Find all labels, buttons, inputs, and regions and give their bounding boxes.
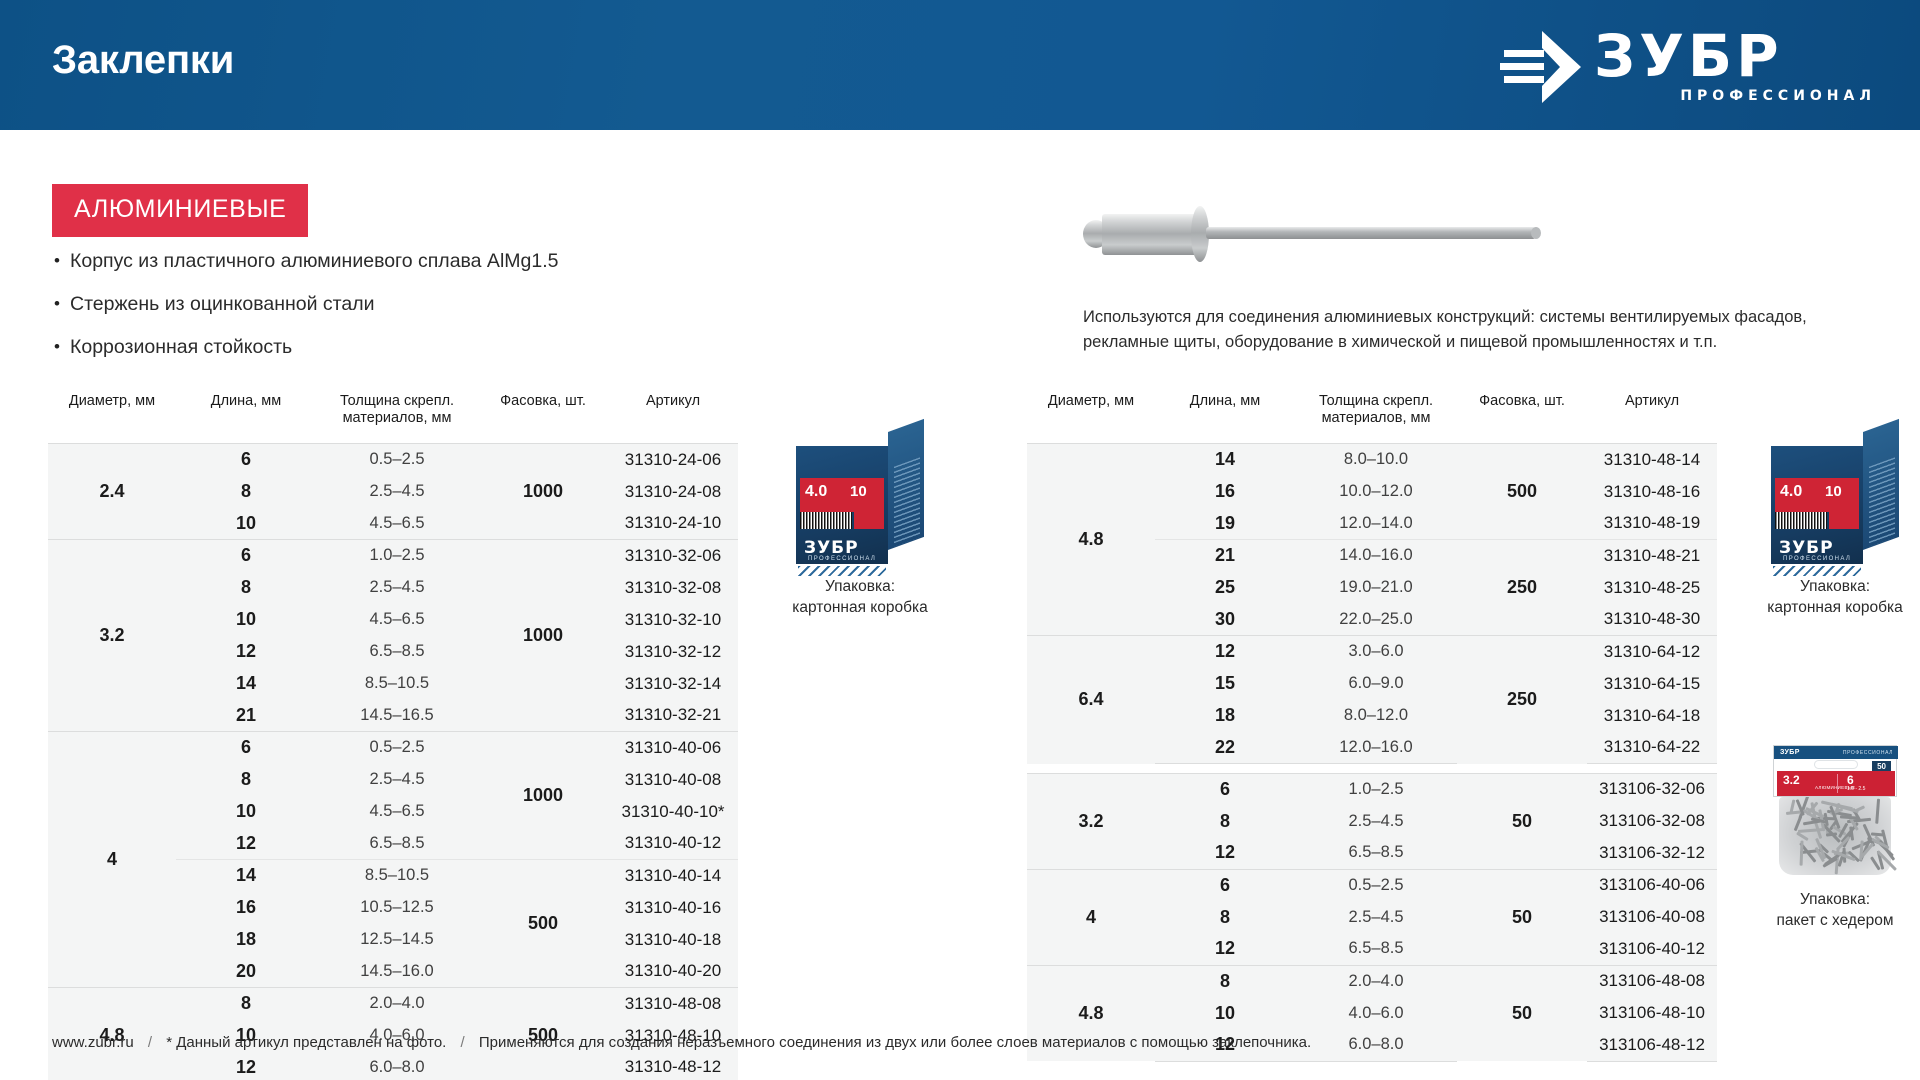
- box-qty-tag: [854, 512, 884, 529]
- cell-diameter: 4.8: [1027, 444, 1155, 636]
- cell-length: 8: [1155, 965, 1295, 997]
- box-red-label: 4.0 10: [1775, 478, 1859, 512]
- table-row: 3.261.0–2.550313106-32-06: [1027, 773, 1717, 805]
- cell-article: 313106-48-10: [1587, 997, 1717, 1029]
- catalog-page: Заклепки ЗУБР ПРОФЕССИОНАЛ АЛЮМИНИЕВЫЕ •…: [0, 0, 1920, 1080]
- bag-brand: ЗУБР: [1780, 749, 1800, 756]
- material-badge: АЛЮМИНИЕВЫЕ: [52, 184, 308, 237]
- table-row: 4.882.0–4.050031310-48-08: [48, 988, 738, 1020]
- cell-article: 31310-32-21: [608, 700, 738, 732]
- cell-article: 313106-32-12: [1587, 837, 1717, 869]
- packaging-caption-line2: пакет с хедером: [1740, 910, 1920, 931]
- cell-article: 31310-40-10*: [608, 796, 738, 828]
- bag-body: [1779, 797, 1891, 875]
- cell-length: 18: [1155, 700, 1295, 732]
- table-row: 4.8148.0–10.050031310-48-14: [1027, 444, 1717, 476]
- cell-thickness: 2.5–4.5: [316, 476, 478, 508]
- cell-article: 31310-48-25: [1587, 572, 1717, 604]
- list-item: • Корпус из пластичного алюминиевого спл…: [54, 248, 674, 274]
- barcode-icon: [800, 512, 852, 529]
- packaging-caption-line2: картонная коробка: [760, 597, 960, 618]
- cell-thickness: 8.0–10.0: [1295, 444, 1457, 476]
- spec-table: Диаметр, ммДлина, ммТолщина скрепл.матер…: [48, 393, 738, 1080]
- packaging-caption: Упаковка: картонная коробка: [760, 576, 960, 618]
- cell-packing: 500: [478, 860, 608, 988]
- cell-length: 30: [1155, 604, 1295, 636]
- cell-length: 21: [1155, 540, 1295, 572]
- feature-text: Стержень из оцинкованной стали: [70, 291, 375, 317]
- footer-separator-2: /: [451, 1034, 475, 1051]
- cell-article: 31310-64-12: [1587, 636, 1717, 668]
- packaging-block-2: 4.0 10 ЗУБР ПРОФЕССИОНАЛ Упаковка: карто…: [1740, 432, 1920, 618]
- cell-article: 31310-24-06: [608, 444, 738, 476]
- cell-packing: 1000: [478, 732, 608, 860]
- cell-thickness: 10.5–12.5: [316, 892, 478, 924]
- box-length: 10: [1825, 483, 1842, 500]
- col-packing: Фасовка, шт.: [1457, 393, 1587, 444]
- table-row: 4.882.0–4.050313106-48-08: [1027, 965, 1717, 997]
- footer-note-use: Применяются для создания неразъемного со…: [479, 1034, 1311, 1051]
- cell-packing: 1000: [478, 444, 608, 540]
- rivet-piece: [1796, 831, 1809, 840]
- brand-wordmark: ЗУБР: [1594, 26, 1783, 86]
- cell-thickness: 2.0–4.0: [1295, 965, 1457, 997]
- bag-size: 3.2: [1783, 773, 1800, 787]
- cell-article: 31310-40-16: [608, 892, 738, 924]
- cell-packing: 50: [1457, 869, 1587, 965]
- cell-thickness: 8.5–10.5: [316, 860, 478, 892]
- col-length: Длина, мм: [1155, 393, 1295, 444]
- cell-diameter: 4: [48, 732, 176, 988]
- bag-red-label: 3.2 АЛЮМИНИЕВЫЕ 6 1.0 - 2.5: [1777, 771, 1895, 796]
- cell-article: 31310-40-06: [608, 732, 738, 764]
- cell-length: 10: [1155, 997, 1295, 1029]
- cell-length: 25: [1155, 572, 1295, 604]
- cell-length: 6: [176, 732, 316, 764]
- bag-image: ЗУБР ПРОФЕССИОНАЛ 50 3.2 АЛЮМИНИЕВЫЕ 6 1…: [1773, 745, 1897, 877]
- rivet-piece: [1794, 815, 1802, 831]
- box-pattern: [798, 566, 886, 576]
- table-aluminium-right-top: Диаметр, ммДлина, ммТолщина скрепл.матер…: [1027, 393, 1717, 764]
- packaging-caption: Упаковка: пакет с хедером: [1740, 889, 1920, 931]
- packaging-caption-line2: картонная коробка: [1740, 597, 1920, 618]
- cell-length: 14: [1155, 444, 1295, 476]
- cell-thickness: 2.5–4.5: [316, 764, 478, 796]
- rivet-piece: [1800, 840, 1804, 865]
- spec-table: Диаметр, ммДлина, ммТолщина скрепл.матер…: [1027, 393, 1717, 764]
- cell-article: 31310-40-08: [608, 764, 738, 796]
- box-length: 10: [850, 483, 867, 500]
- cell-length: 16: [1155, 476, 1295, 508]
- box-brand: ЗУБР: [804, 538, 859, 558]
- cell-packing: 50: [1457, 965, 1587, 1061]
- cell-packing: 250: [1457, 540, 1587, 636]
- page-footer: www.zubr.ru / * Данный артикул представл…: [52, 1034, 1311, 1051]
- rivet-product-image: [1078, 196, 1578, 266]
- feature-list: • Корпус из пластичного алюминиевого спл…: [54, 248, 674, 377]
- cell-article: 31310-48-08: [608, 988, 738, 1020]
- box-pattern: [1773, 566, 1861, 576]
- spec-table: 3.261.0–2.550313106-32-0682.5–4.5313106-…: [1027, 745, 1717, 1062]
- cell-thickness: 4.5–6.5: [316, 796, 478, 828]
- cell-article: 31310-40-20: [608, 956, 738, 988]
- bag-header-card: ЗУБР ПРОФЕССИОНАЛ 50 3.2 АЛЮМИНИЕВЫЕ 6 1…: [1773, 745, 1897, 797]
- table-header-row: Диаметр, ммДлина, ммТолщина скрепл.матер…: [1027, 393, 1717, 444]
- list-item: • Стержень из оцинкованной стали: [54, 291, 674, 317]
- cell-diameter: 3.2: [1027, 773, 1155, 869]
- cell-length: 12: [1155, 636, 1295, 668]
- bag-length-sub: 1.0 - 2.5: [1847, 786, 1865, 792]
- cell-thickness: 8.0–12.0: [1295, 700, 1457, 732]
- cell-thickness: 0.5–2.5: [316, 732, 478, 764]
- cell-article: 31310-24-10: [608, 508, 738, 540]
- box-brand: ЗУБР: [1779, 538, 1834, 558]
- cell-length: 8: [176, 476, 316, 508]
- cell-thickness: 19.0–21.0: [1295, 572, 1457, 604]
- cell-article: 313106-40-08: [1587, 901, 1717, 933]
- cell-length: 6: [1155, 773, 1295, 805]
- cell-thickness: 8.5–10.5: [316, 668, 478, 700]
- box-qty-tag: [1829, 512, 1859, 529]
- cell-thickness: 4.5–6.5: [316, 508, 478, 540]
- cell-article: 31310-32-10: [608, 604, 738, 636]
- col-thickness: Толщина скрепл.материалов, мм: [1295, 393, 1457, 444]
- box-front: 4.0 10 ЗУБР ПРОФЕССИОНАЛ: [1771, 446, 1863, 564]
- cell-thickness: 12.5–14.5: [316, 924, 478, 956]
- col-diameter: Диаметр, мм: [1027, 393, 1155, 444]
- cell-thickness: 2.0–4.0: [316, 988, 478, 1020]
- col-packing: Фасовка, шт.: [478, 393, 608, 444]
- footer-site[interactable]: www.zubr.ru: [52, 1034, 134, 1051]
- cell-thickness: 4.0–6.0: [1295, 997, 1457, 1029]
- brand-logo: ЗУБР ПРОФЕССИОНАЛ: [1498, 26, 1878, 112]
- page-title: Заклепки: [52, 38, 234, 83]
- cell-thickness: 1.0–2.5: [1295, 773, 1457, 805]
- cell-length: 8: [176, 988, 316, 1020]
- box-size: 4.0: [1780, 483, 1802, 501]
- cell-thickness: 1.0–2.5: [316, 540, 478, 572]
- cell-article: 31310-32-12: [608, 636, 738, 668]
- cell-thickness: 2.5–4.5: [316, 572, 478, 604]
- cell-article: 31310-32-14: [608, 668, 738, 700]
- cell-thickness: 6.0–8.0: [1295, 1029, 1457, 1061]
- zubr-mark-icon: [1498, 30, 1582, 104]
- col-length: Длина, мм: [176, 393, 316, 444]
- cell-thickness: 4.5–6.5: [316, 604, 478, 636]
- cell-article: 31310-48-12: [608, 1052, 738, 1080]
- cell-length: 21: [176, 700, 316, 732]
- cell-article: 31310-24-08: [608, 476, 738, 508]
- cell-length: 12: [1155, 837, 1295, 869]
- carton-box-image: 4.0 10 ЗУБР ПРОФЕССИОНАЛ: [796, 432, 924, 564]
- cell-thickness: 3.0–6.0: [1295, 636, 1457, 668]
- packaging-caption: Упаковка: картонная коробка: [1740, 576, 1920, 618]
- bag-brand-sub: ПРОФЕССИОНАЛ: [1843, 750, 1893, 756]
- table-row: 2.460.5–2.5100031310-24-06: [48, 444, 738, 476]
- box-red-label: 4.0 10: [800, 478, 884, 512]
- cell-article: 313106-48-08: [1587, 965, 1717, 997]
- table-aluminium-right-bottom: 3.261.0–2.550313106-32-0682.5–4.5313106-…: [1027, 745, 1717, 1062]
- cell-length: 12: [1155, 933, 1295, 965]
- cell-length: 15: [1155, 668, 1295, 700]
- box-size: 4.0: [805, 483, 827, 501]
- cell-article: 31310-40-12: [608, 828, 738, 860]
- cell-thickness: 6.5–8.5: [316, 636, 478, 668]
- cell-article: 31310-48-19: [1587, 508, 1717, 540]
- cell-article: 313106-32-08: [1587, 805, 1717, 837]
- euro-hole-icon: [1814, 760, 1858, 769]
- cell-thickness: 0.5–2.5: [316, 444, 478, 476]
- table-row: 3.261.0–2.5100031310-32-06: [48, 540, 738, 572]
- cell-thickness: 6.0–8.0: [316, 1052, 478, 1080]
- feature-text: Коррозионная стойкость: [70, 334, 292, 360]
- cell-article: 313106-40-06: [1587, 869, 1717, 901]
- cell-thickness: 6.5–8.5: [1295, 837, 1457, 869]
- rivet-piece: [1875, 799, 1879, 824]
- cell-article: 31310-48-14: [1587, 444, 1717, 476]
- box-brand-sub: ПРОФЕССИОНАЛ: [1783, 556, 1851, 562]
- col-thickness: Толщина скрепл.материалов, мм: [316, 393, 478, 444]
- packaging-block-3: ЗУБР ПРОФЕССИОНАЛ 50 3.2 АЛЮМИНИЕВЫЕ 6 1…: [1740, 745, 1920, 931]
- packaging-block-1: 4.0 10 ЗУБР ПРОФЕССИОНАЛ Упаковка: карто…: [760, 432, 960, 618]
- cell-thickness: 0.5–2.5: [1295, 869, 1457, 901]
- cell-length: 8: [176, 764, 316, 796]
- cell-length: 10: [176, 604, 316, 636]
- packaging-caption-line1: Упаковка:: [760, 576, 960, 597]
- cell-thickness: 12.0–14.0: [1295, 508, 1457, 540]
- table-header-row: Диаметр, ммДлина, ммТолщина скрепл.матер…: [48, 393, 738, 444]
- table-row: 460.5–2.5100031310-40-06: [48, 732, 738, 764]
- cell-article: 31310-48-16: [1587, 476, 1717, 508]
- cell-packing: 500: [1457, 444, 1587, 540]
- cell-article: 313106-32-06: [1587, 773, 1717, 805]
- cell-length: 14: [176, 668, 316, 700]
- bullet-dot-icon: •: [54, 334, 70, 360]
- page-header: Заклепки ЗУБР ПРОФЕССИОНАЛ: [0, 0, 1920, 130]
- cell-article: 313106-48-12: [1587, 1029, 1717, 1061]
- bag-divider: [1837, 774, 1838, 793]
- bullet-dot-icon: •: [54, 248, 70, 274]
- cell-article: 31310-48-30: [1587, 604, 1717, 636]
- bag-brand-strip: ЗУБР ПРОФЕССИОНАЛ: [1774, 746, 1898, 759]
- cell-length: 12: [176, 1052, 316, 1080]
- cell-length: 8: [1155, 901, 1295, 933]
- barcode-icon: [1775, 512, 1827, 529]
- cell-length: 19: [1155, 508, 1295, 540]
- cell-length: 14: [176, 860, 316, 892]
- cell-thickness: 14.0–16.0: [1295, 540, 1457, 572]
- box-side-text: [1869, 457, 1895, 546]
- cell-length: 6: [1155, 869, 1295, 901]
- cell-article: 31310-48-21: [1587, 540, 1717, 572]
- cell-article: 31310-40-18: [608, 924, 738, 956]
- brand-tagline: ПРОФЕССИОНАЛ: [1680, 88, 1876, 104]
- cell-length: 20: [176, 956, 316, 988]
- cell-length: 8: [1155, 805, 1295, 837]
- packaging-caption-line1: Упаковка:: [1740, 576, 1920, 597]
- carton-box-image: 4.0 10 ЗУБР ПРОФЕССИОНАЛ: [1771, 432, 1899, 564]
- table-row: 6.4123.0–6.025031310-64-12: [1027, 636, 1717, 668]
- list-item: • Коррозионная стойкость: [54, 334, 674, 360]
- packaging-caption-line1: Упаковка:: [1740, 889, 1920, 910]
- footer-note-star: * Данный артикул представлен на фото.: [166, 1034, 446, 1051]
- cell-thickness: 10.0–12.0: [1295, 476, 1457, 508]
- cell-thickness: 6.0–9.0: [1295, 668, 1457, 700]
- bullet-dot-icon: •: [54, 291, 70, 317]
- box-side-text: [894, 457, 920, 546]
- box-front: 4.0 10 ЗУБР ПРОФЕССИОНАЛ: [796, 446, 888, 564]
- cell-thickness: 14.5–16.5: [316, 700, 478, 732]
- cell-length: 6: [176, 540, 316, 572]
- cell-article: 31310-32-08: [608, 572, 738, 604]
- cell-article: 31310-64-15: [1587, 668, 1717, 700]
- cell-length: 10: [176, 508, 316, 540]
- cell-thickness: 2.5–4.5: [1295, 805, 1457, 837]
- footer-separator-1: /: [138, 1034, 162, 1051]
- cell-packing: 1000: [478, 540, 608, 732]
- box-brand-sub: ПРОФЕССИОНАЛ: [808, 556, 876, 562]
- cell-thickness: 6.5–8.5: [316, 828, 478, 860]
- feature-text: Корпус из пластичного алюминиевого сплав…: [70, 248, 558, 274]
- cell-thickness: 22.0–25.0: [1295, 604, 1457, 636]
- cell-length: 12: [176, 636, 316, 668]
- col-article: Артикул: [1587, 393, 1717, 444]
- cell-thickness: 14.5–16.0: [316, 956, 478, 988]
- table-aluminium-left: Диаметр, ммДлина, ммТолщина скрепл.матер…: [48, 393, 738, 1080]
- cell-diameter: 2.4: [48, 444, 176, 540]
- col-diameter: Диаметр, мм: [48, 393, 176, 444]
- cell-article: 31310-64-18: [1587, 700, 1717, 732]
- cell-thickness: 6.5–8.5: [1295, 933, 1457, 965]
- cell-article: 313106-40-12: [1587, 933, 1717, 965]
- cell-diameter: 4: [1027, 869, 1155, 965]
- table-row: 460.5–2.550313106-40-06: [1027, 869, 1717, 901]
- usage-description: Используются для соединения алюминиевых …: [1083, 305, 1823, 355]
- cell-article: 31310-40-14: [608, 860, 738, 892]
- cell-length: 16: [176, 892, 316, 924]
- bag-length: 6: [1847, 773, 1854, 787]
- cell-article: 31310-32-06: [608, 540, 738, 572]
- cell-thickness: 2.5–4.5: [1295, 901, 1457, 933]
- cell-diameter: 3.2: [48, 540, 176, 732]
- cell-packing: 50: [1457, 773, 1587, 869]
- col-article: Артикул: [608, 393, 738, 444]
- cell-length: 10: [176, 796, 316, 828]
- cell-length: 8: [176, 572, 316, 604]
- cell-length: 12: [176, 828, 316, 860]
- cell-length: 6: [176, 444, 316, 476]
- cell-length: 18: [176, 924, 316, 956]
